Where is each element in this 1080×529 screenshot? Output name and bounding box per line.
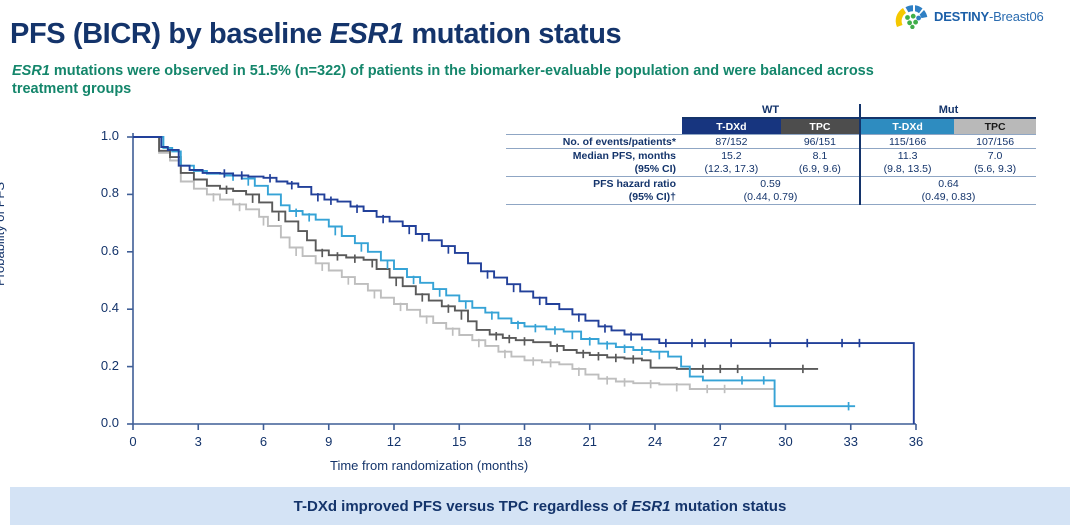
x-axis-label: Time from randomization (months) <box>330 458 528 473</box>
group-header-wt: WT <box>682 104 860 117</box>
x-axis-tick: 21 <box>575 434 605 449</box>
y-axis-tick: 0.8 <box>85 185 119 200</box>
x-axis-tick: 18 <box>510 434 540 449</box>
x-axis-tick: 15 <box>444 434 474 449</box>
plot-area <box>0 118 960 448</box>
cell-events-mut-tpc: 107/156 <box>954 135 1036 149</box>
page-subtitle: ESR1 mutations were observed in 51.5% (n… <box>12 62 882 98</box>
x-axis-tick: 27 <box>705 434 735 449</box>
x-axis-tick: 33 <box>836 434 866 449</box>
kaplan-meier-chart: Probability of PFS Time from randomizati… <box>0 118 960 478</box>
page-title: PFS (BICR) by baseline ESR1 mutation sta… <box>10 18 621 51</box>
takeaway-banner: T-DXd improved PFS versus TPC regardless… <box>10 487 1070 525</box>
x-axis-tick: 36 <box>901 434 931 449</box>
y-axis-tick: 0.4 <box>85 300 119 315</box>
group-header-mut: Mut <box>861 104 1036 117</box>
curve-wt-tpc <box>133 137 818 373</box>
destiny-fan-logo-icon <box>895 3 929 29</box>
y-axis-tick: 1.0 <box>85 128 119 143</box>
y-axis-tick: 0.6 <box>85 243 119 258</box>
title-gene-name: ESR1 <box>330 18 404 50</box>
curve-wt-t-dxd <box>133 137 914 424</box>
cell-median-ci-mut-tpc: (5.6, 9.3) <box>954 163 1036 177</box>
y-axis-label: Probability of PFS <box>0 182 7 286</box>
destiny-breast06-logo: DESTINY-Breast06 <box>895 2 1075 30</box>
x-axis-tick: 3 <box>183 434 213 449</box>
x-axis-tick: 24 <box>640 434 670 449</box>
x-axis-tick: 30 <box>771 434 801 449</box>
x-axis-tick: 0 <box>118 434 148 449</box>
arm-header-mut-tpc: TPC <box>954 119 1036 135</box>
logo-text: DESTINY-Breast06 <box>934 9 1044 24</box>
subtitle-gene-name: ESR1 <box>12 63 50 79</box>
x-axis-tick: 9 <box>314 434 344 449</box>
table-group-header-row: WT Mut <box>506 104 1036 117</box>
x-axis-tick: 6 <box>249 434 279 449</box>
takeaway-text: T-DXd improved PFS versus TPC regardless… <box>294 498 787 515</box>
cell-median-mut-tpc: 7.0 <box>954 149 1036 163</box>
y-axis-tick: 0.0 <box>85 415 119 430</box>
x-axis-tick: 12 <box>379 434 409 449</box>
y-axis-tick: 0.2 <box>85 358 119 373</box>
